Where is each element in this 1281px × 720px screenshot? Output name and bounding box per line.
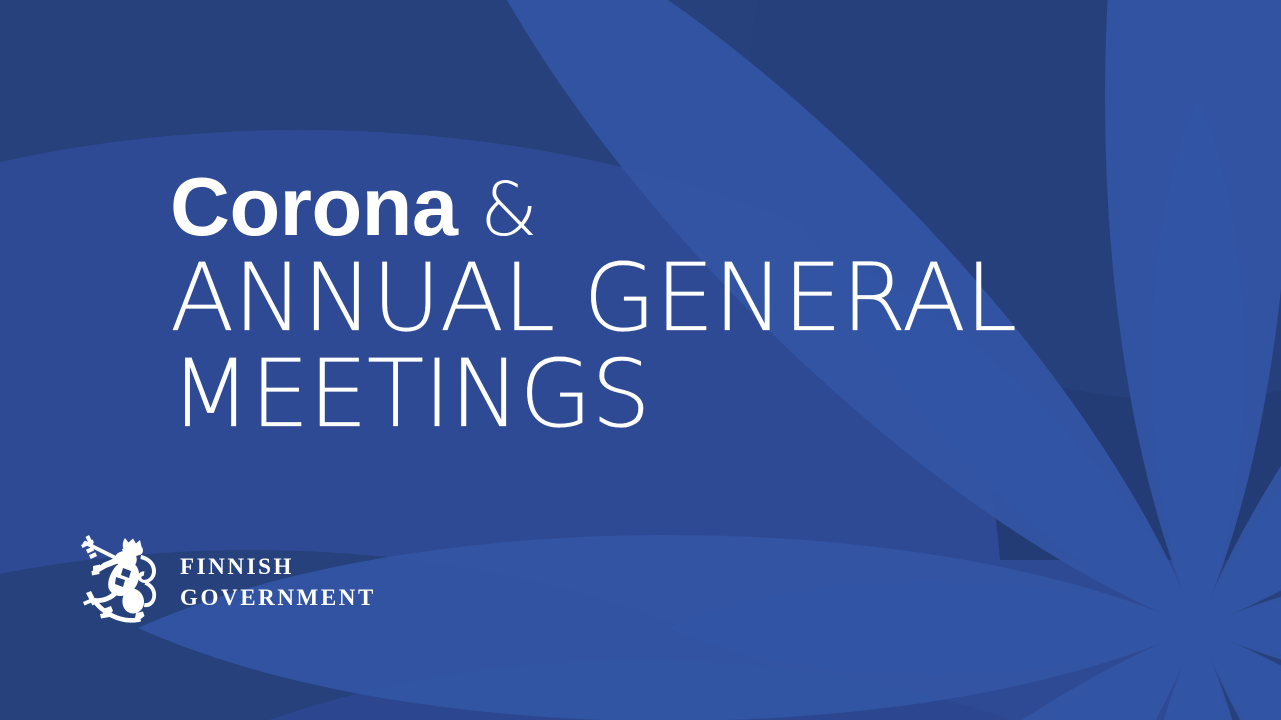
finnish-government-wordmark: FINNISH GOVERNMENT bbox=[180, 552, 376, 613]
title-line-meetings: MEETINGS bbox=[170, 347, 1070, 443]
finnish-government-logo: FINNISH GOVERNMENT bbox=[78, 533, 376, 633]
slide-title-block: Corona & ANNUAL GENERAL MEETINGS bbox=[170, 168, 1070, 443]
title-ampersand: & bbox=[480, 167, 537, 253]
wordmark-line-government: GOVERNMENT bbox=[180, 583, 376, 614]
title-keyword-bold: Corona bbox=[170, 160, 458, 253]
title-line-annual-general: ANNUAL GENERAL bbox=[170, 251, 1070, 347]
wordmark-line-finnish: FINNISH bbox=[180, 552, 376, 583]
presentation-slide: Corona & ANNUAL GENERAL MEETINGS bbox=[0, 0, 1281, 720]
title-line-corona: Corona & bbox=[170, 168, 1070, 247]
finnish-coat-of-arms-lion-icon bbox=[78, 533, 162, 633]
